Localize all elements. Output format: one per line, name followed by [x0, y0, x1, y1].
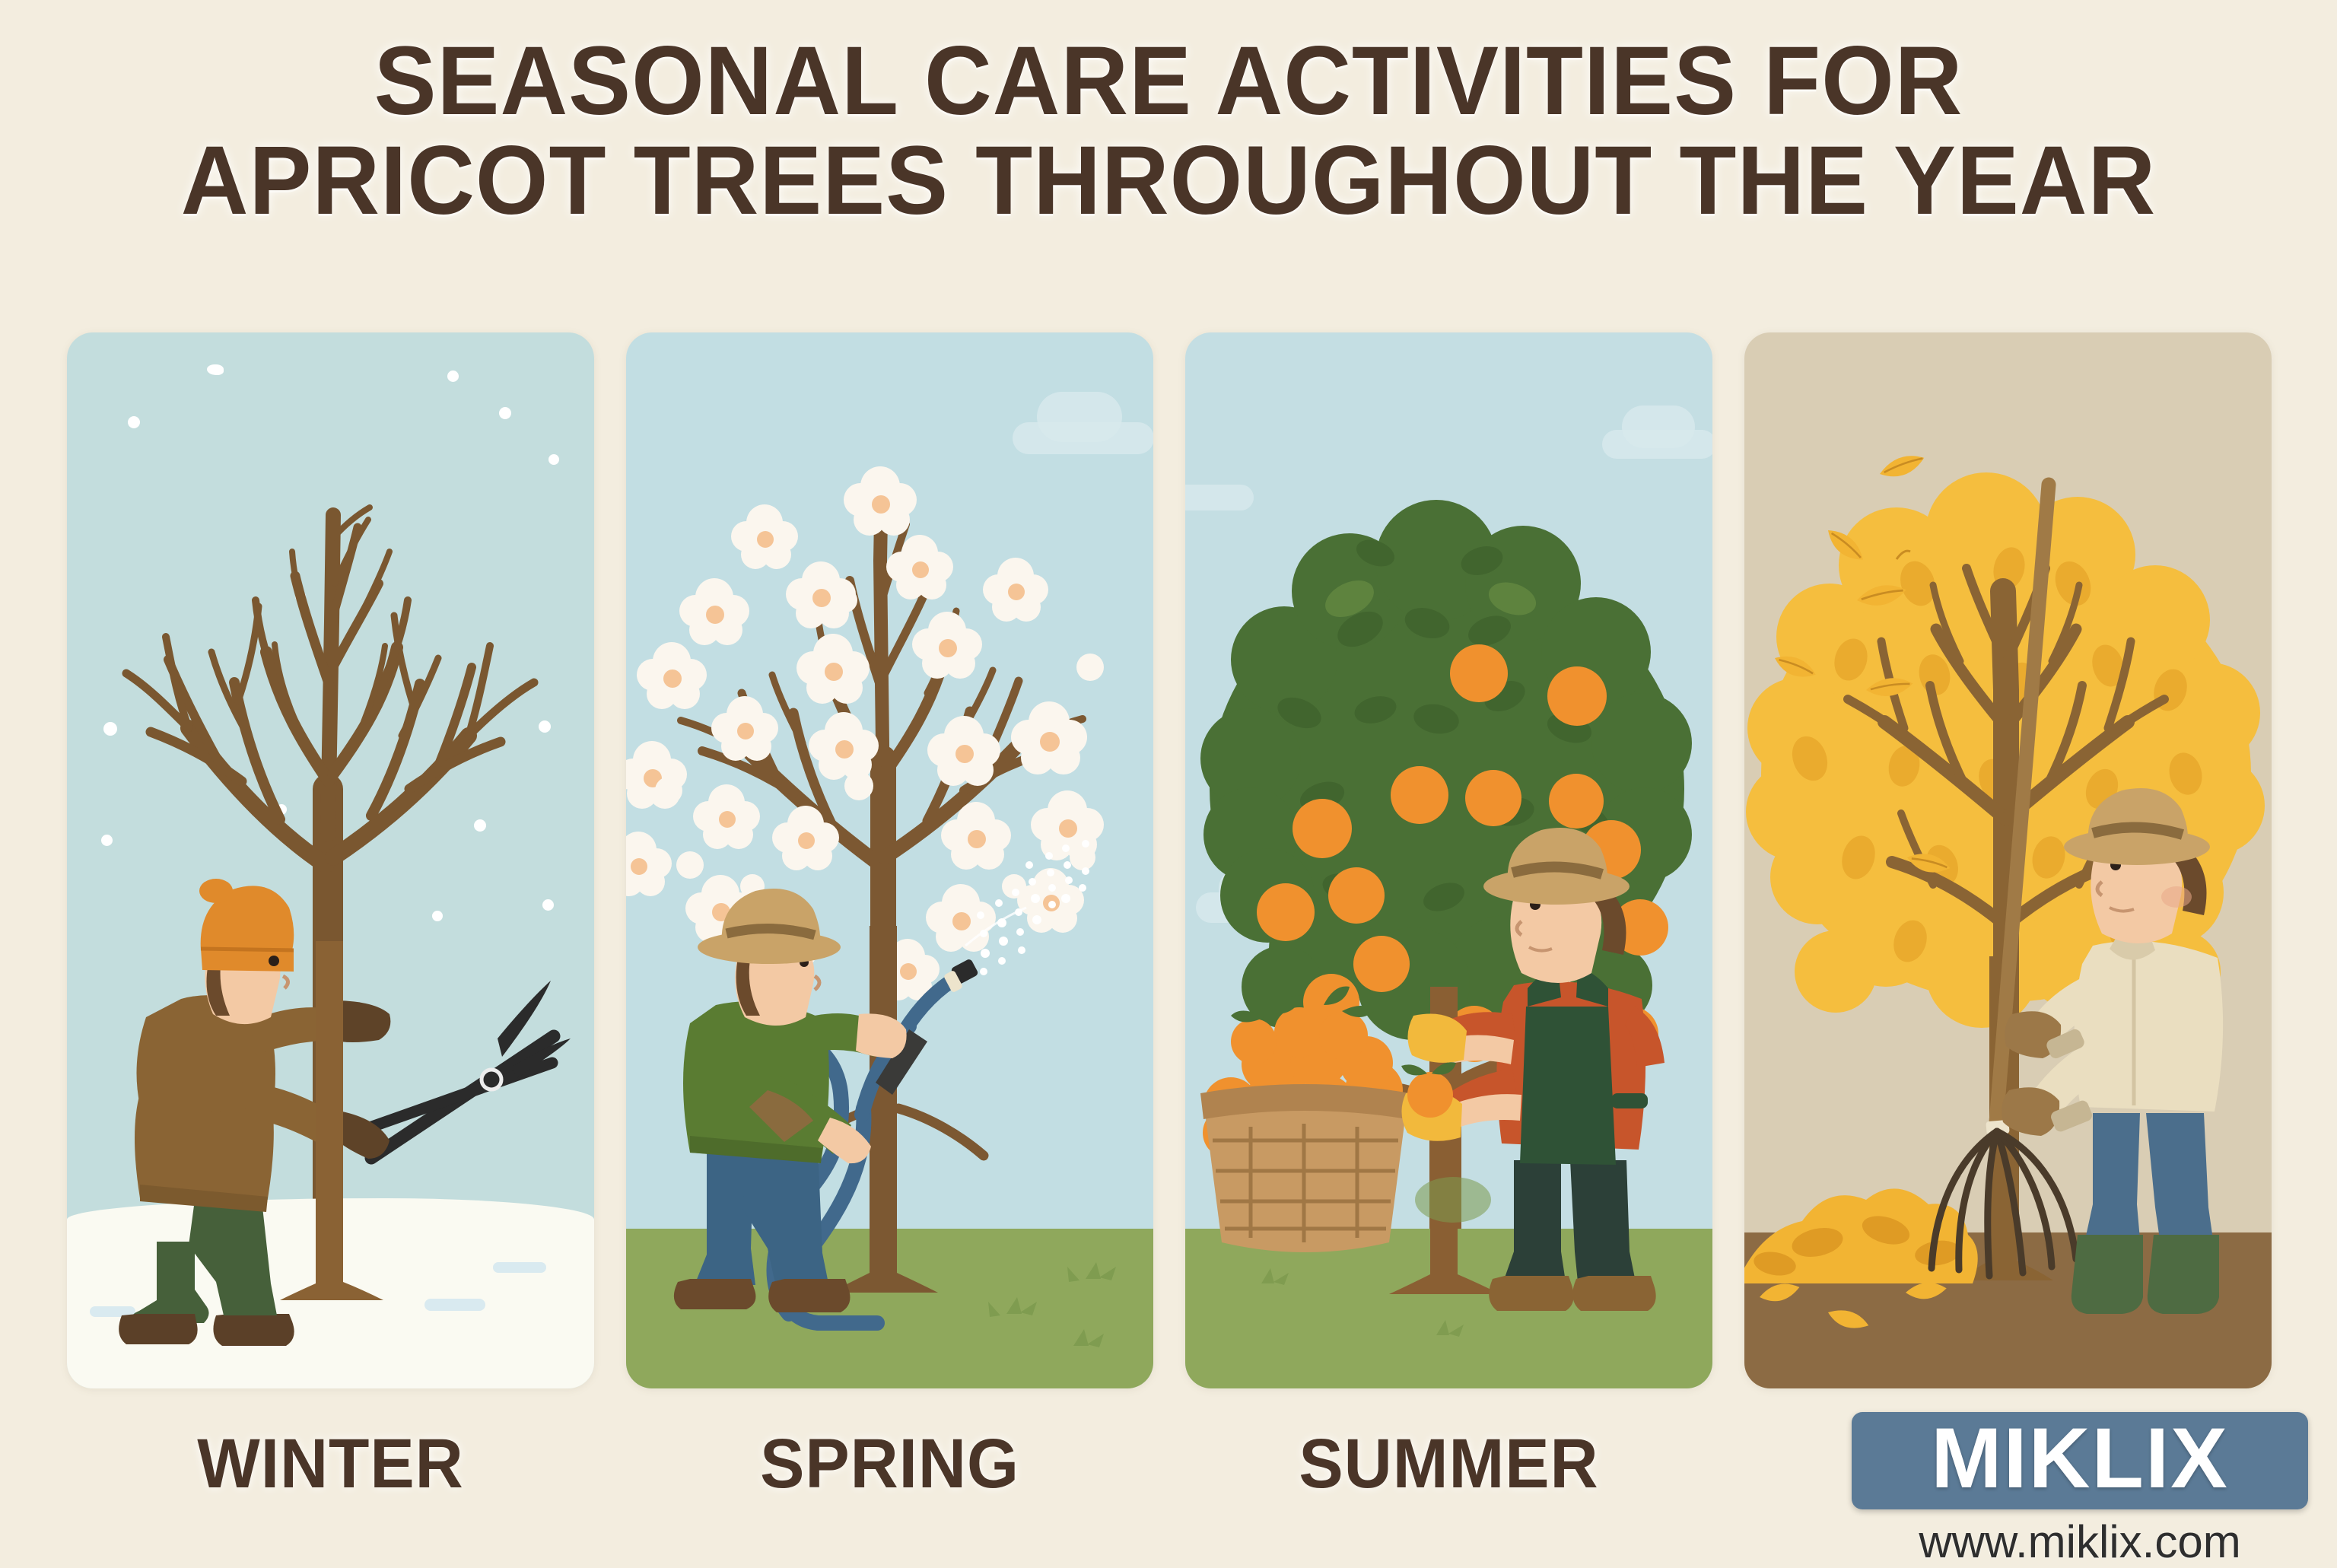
watermark: MIKLIX www.miklix.com — [1852, 1412, 2308, 1568]
season-panel-row — [67, 332, 2272, 1388]
page-title: SEASONAL CARE ACTIVITIES FOR APRICOT TRE… — [0, 32, 2337, 231]
panel-autumn[interactable] — [1744, 332, 2272, 1388]
winter-trunk-foreground — [67, 332, 594, 1388]
title-line-1: SEASONAL CARE ACTIVITIES FOR — [46, 32, 2290, 132]
title-line-2: APRICOT TREES THROUGHOUT THE YEAR — [46, 132, 2290, 231]
season-label-winter: WINTER — [80, 1429, 580, 1528]
summer-gardener-harvesting — [1185, 332, 1712, 1388]
held-apricot — [1407, 1072, 1453, 1118]
watermark-badge: MIKLIX — [1852, 1412, 2308, 1509]
spring-gardener-watering — [626, 332, 1153, 1388]
autumn-gardener-raking — [1744, 332, 2272, 1388]
watermark-url: www.miklix.com — [1852, 1516, 2308, 1568]
panel-summer[interactable] — [1185, 332, 1712, 1388]
panel-spring[interactable] — [626, 332, 1153, 1388]
watermark-brand: MIKLIX — [1868, 1415, 2291, 1502]
season-label-summer: SUMMER — [1198, 1429, 1699, 1528]
panel-winter[interactable] — [67, 332, 594, 1388]
leaf-rake-icon — [1932, 485, 2076, 1276]
water-spray-icon — [965, 840, 1089, 975]
season-label-spring: SPRING — [639, 1429, 1140, 1528]
